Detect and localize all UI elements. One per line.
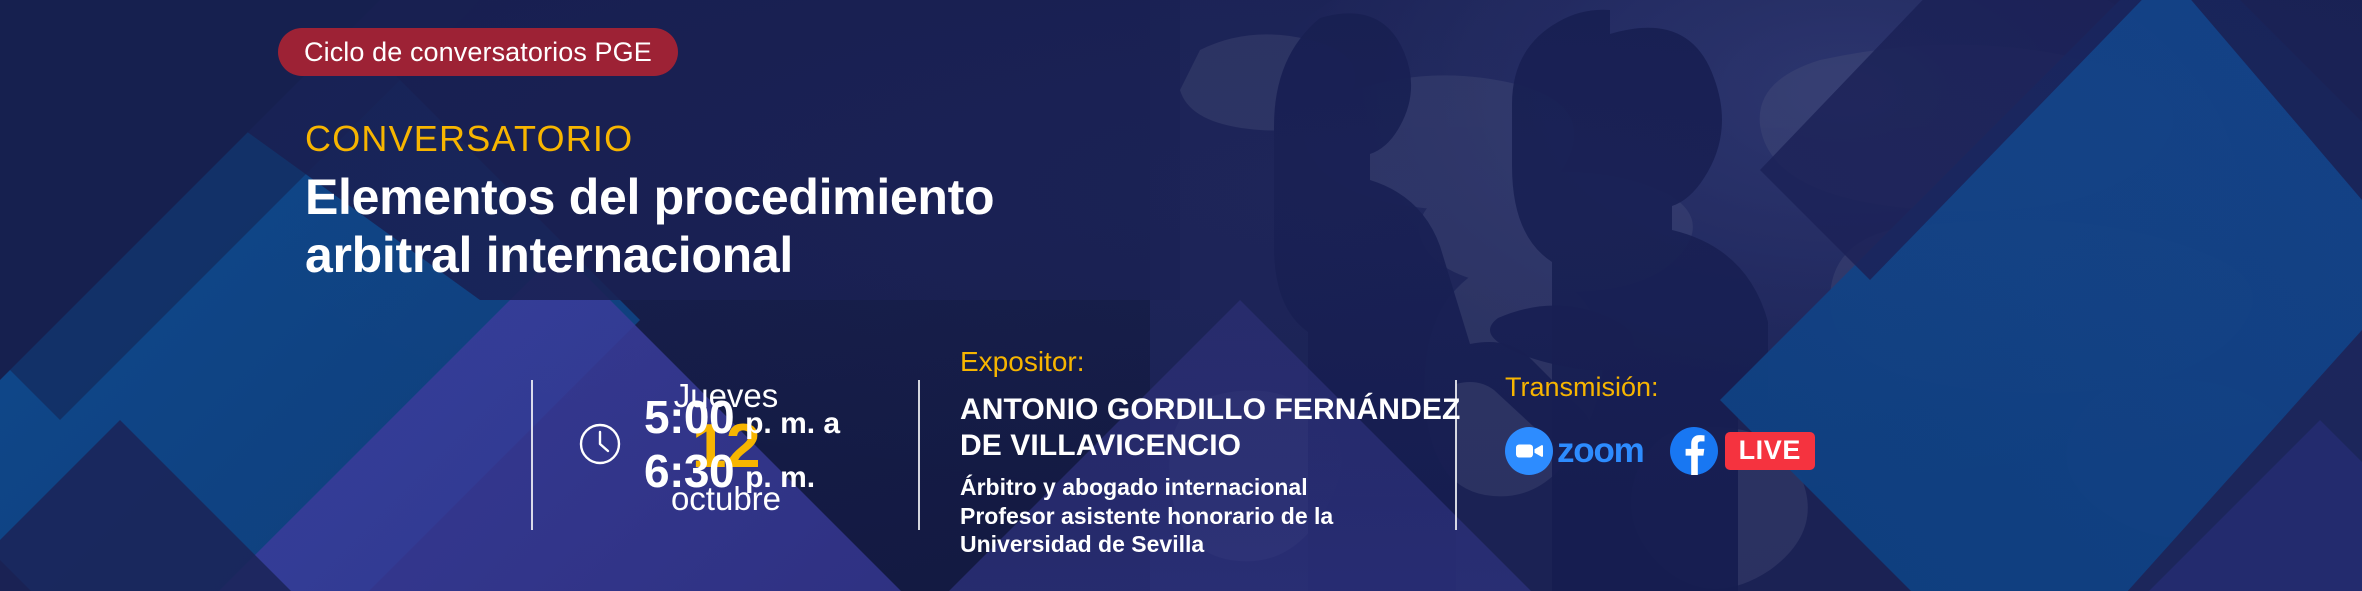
- speaker-name-line-1: ANTONIO GORDILLO FERNÁNDEZ: [960, 392, 1460, 428]
- time-end-suffix: p. m.: [745, 460, 815, 495]
- event-title-line-1: Elementos del procedimiento: [305, 168, 994, 226]
- event-banner: Ciclo de conversatorios PGE CONVERSATORI…: [0, 0, 2362, 591]
- speaker-role-line-3: Universidad de Sevilla: [960, 530, 1460, 559]
- time-end-value: 6:30: [644, 444, 734, 498]
- time-lines: 5:00 p. m. a 6:30 p. m.: [644, 390, 840, 499]
- divider-date-time: [531, 380, 533, 530]
- divider-time-speaker: [918, 380, 920, 530]
- event-time: 5:00 p. m. a 6:30 p. m.: [578, 390, 840, 499]
- live-badge: LIVE: [1725, 432, 1815, 470]
- broadcast-label: Transmisión:: [1505, 372, 1815, 403]
- event-speaker: Expositor: ANTONIO GORDILLO FERNÁNDEZ DE…: [960, 346, 1460, 559]
- broadcast-logos: zoom LIVE: [1505, 427, 1815, 475]
- speaker-name: ANTONIO GORDILLO FERNÁNDEZ DE VILLAVICEN…: [960, 392, 1460, 464]
- event-broadcast: Transmisión: zoom: [1505, 372, 1815, 475]
- speaker-label: Expositor:: [960, 346, 1460, 378]
- time-start-value: 5:00: [644, 390, 734, 444]
- series-badge: Ciclo de conversatorios PGE: [278, 28, 678, 76]
- speaker-role-line-2: Profesor asistente honorario de la: [960, 502, 1460, 531]
- zoom-camera-icon: [1505, 427, 1553, 475]
- event-details-strip: Jueves 12 octubre 5:00 p. m. a: [0, 360, 2362, 551]
- speaker-role-line-1: Árbitro y abogado internacional: [960, 473, 1460, 502]
- clock-icon: [578, 422, 622, 466]
- speaker-name-line-2: DE VILLAVICENCIO: [960, 428, 1460, 464]
- zoom-logo[interactable]: zoom: [1505, 427, 1644, 475]
- time-start-suffix: p. m. a: [745, 406, 840, 441]
- event-title-line-2: arbitral internacional: [305, 226, 994, 284]
- facebook-live-logo[interactable]: LIVE: [1670, 427, 1815, 475]
- event-title: Elementos del procedimiento arbitral int…: [305, 168, 994, 284]
- time-end-line: 6:30 p. m.: [644, 444, 840, 498]
- facebook-f-icon: [1670, 427, 1718, 475]
- speaker-role: Árbitro y abogado internacional Profesor…: [960, 473, 1460, 559]
- banner-content: Ciclo de conversatorios PGE CONVERSATORI…: [0, 0, 2362, 591]
- time-start-line: 5:00 p. m. a: [644, 390, 840, 444]
- zoom-wordmark: zoom: [1557, 431, 1644, 471]
- event-kicker: CONVERSATORIO: [305, 118, 633, 160]
